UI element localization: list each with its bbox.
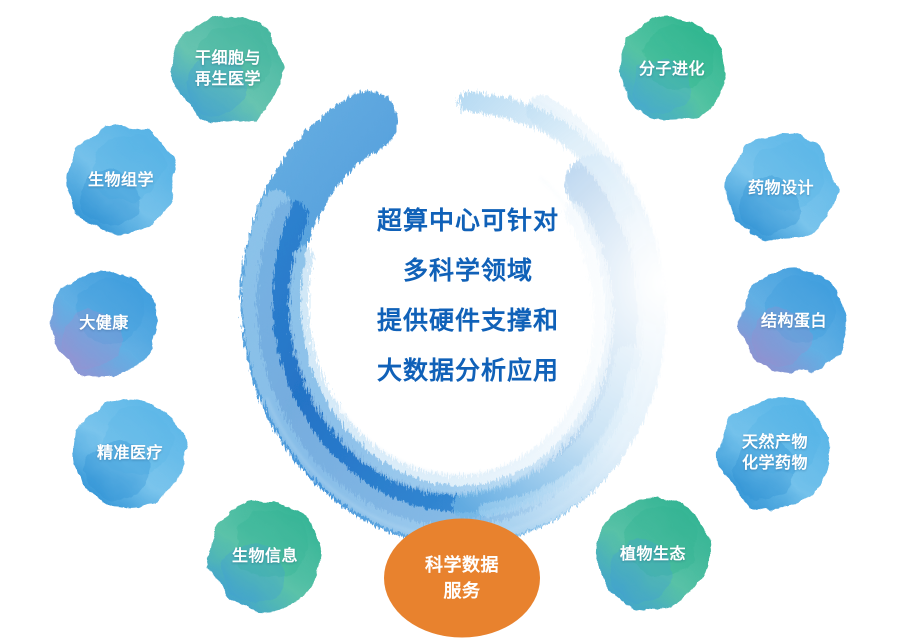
domain-node-label: 药物设计 [748, 178, 814, 199]
domain-node-plant-ecology[interactable]: 植物生态 [592, 492, 714, 616]
domain-node-label: 生物组学 [88, 170, 154, 191]
domain-node-drug-design[interactable]: 药物设计 [722, 128, 840, 248]
domain-node-bioinformatics[interactable]: 生物信息 [204, 494, 326, 618]
domain-node-stem-cell[interactable]: 干细胞与 再生医学 [168, 8, 288, 130]
domain-node-label: 结构蛋白 [761, 311, 827, 332]
domain-node-label: 精准医疗 [97, 443, 163, 464]
domain-node-bio-omics[interactable]: 生物组学 [62, 120, 180, 240]
domain-node-label: 科学数据 服务 [425, 552, 499, 604]
domain-node-molecular-evolution[interactable]: 分子进化 [614, 10, 730, 128]
domain-node-label: 生物信息 [232, 546, 298, 567]
domain-node-structural-protein[interactable]: 结构蛋白 [736, 262, 852, 380]
domain-node-label: 分子进化 [639, 59, 705, 80]
infographic-canvas: 超算中心可针对 多科学领域 提供硬件支撑和 大数据分析应用 干细胞与 再生医学分… [0, 0, 921, 642]
domain-node-label: 大健康 [79, 313, 129, 334]
domain-node-natural-products[interactable]: 天然产物 化学药物 [714, 392, 836, 514]
domain-node-precision-medicine[interactable]: 精准医疗 [70, 392, 190, 514]
brush-ring [218, 58, 688, 558]
domain-node-label: 植物生态 [620, 544, 686, 565]
domain-node-scientific-data-service[interactable]: 科学数据 服务 [384, 516, 540, 640]
domain-node-label: 干细胞与 再生医学 [195, 48, 261, 90]
domain-node-big-health[interactable]: 大健康 [46, 264, 162, 382]
domain-node-label: 天然产物 化学药物 [742, 432, 808, 474]
